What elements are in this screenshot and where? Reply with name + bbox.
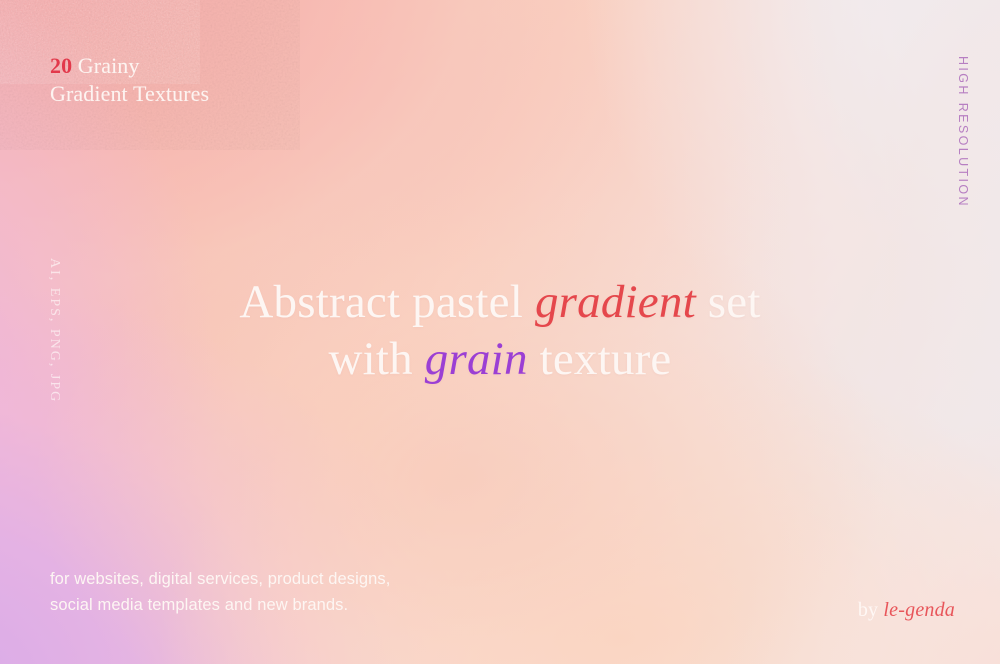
pack-title-line2: Gradient Textures bbox=[50, 81, 209, 106]
headline-line-1: Abstract pastel gradient set bbox=[0, 274, 1000, 331]
pack-title-word: Grainy bbox=[72, 53, 139, 78]
signature-brand: le-genda bbox=[883, 599, 955, 621]
headline-line2-part2: texture bbox=[528, 333, 672, 385]
signature-prefix: by bbox=[858, 599, 884, 621]
headline-line2-part1: with bbox=[328, 333, 424, 385]
author-signature: by le-genda bbox=[858, 599, 955, 622]
description-line-2: social media templates and new brands. bbox=[50, 592, 390, 619]
headline-line1-part1: Abstract pastel bbox=[239, 276, 535, 328]
pack-title: 20 Grainy Gradient Textures bbox=[50, 52, 209, 108]
description-text: for websites, digital services, product … bbox=[50, 566, 390, 619]
poster-content: 20 Grainy Gradient Textures HIGH RESOLUT… bbox=[0, 0, 1000, 664]
badge-high-resolution: HIGH RESOLUTION bbox=[956, 56, 970, 208]
page-title: Abstract pastel gradient set with grain … bbox=[0, 274, 1000, 389]
headline-line1-part2: set bbox=[696, 276, 761, 328]
headline-accent-gradient: gradient bbox=[535, 276, 696, 328]
headline-line-2: with grain texture bbox=[0, 331, 1000, 388]
pack-count: 20 bbox=[50, 53, 72, 78]
description-line-1: for websites, digital services, product … bbox=[50, 566, 390, 593]
headline-accent-grain: grain bbox=[425, 333, 528, 385]
gradient-poster: 20 Grainy Gradient Textures HIGH RESOLUT… bbox=[0, 0, 1000, 664]
